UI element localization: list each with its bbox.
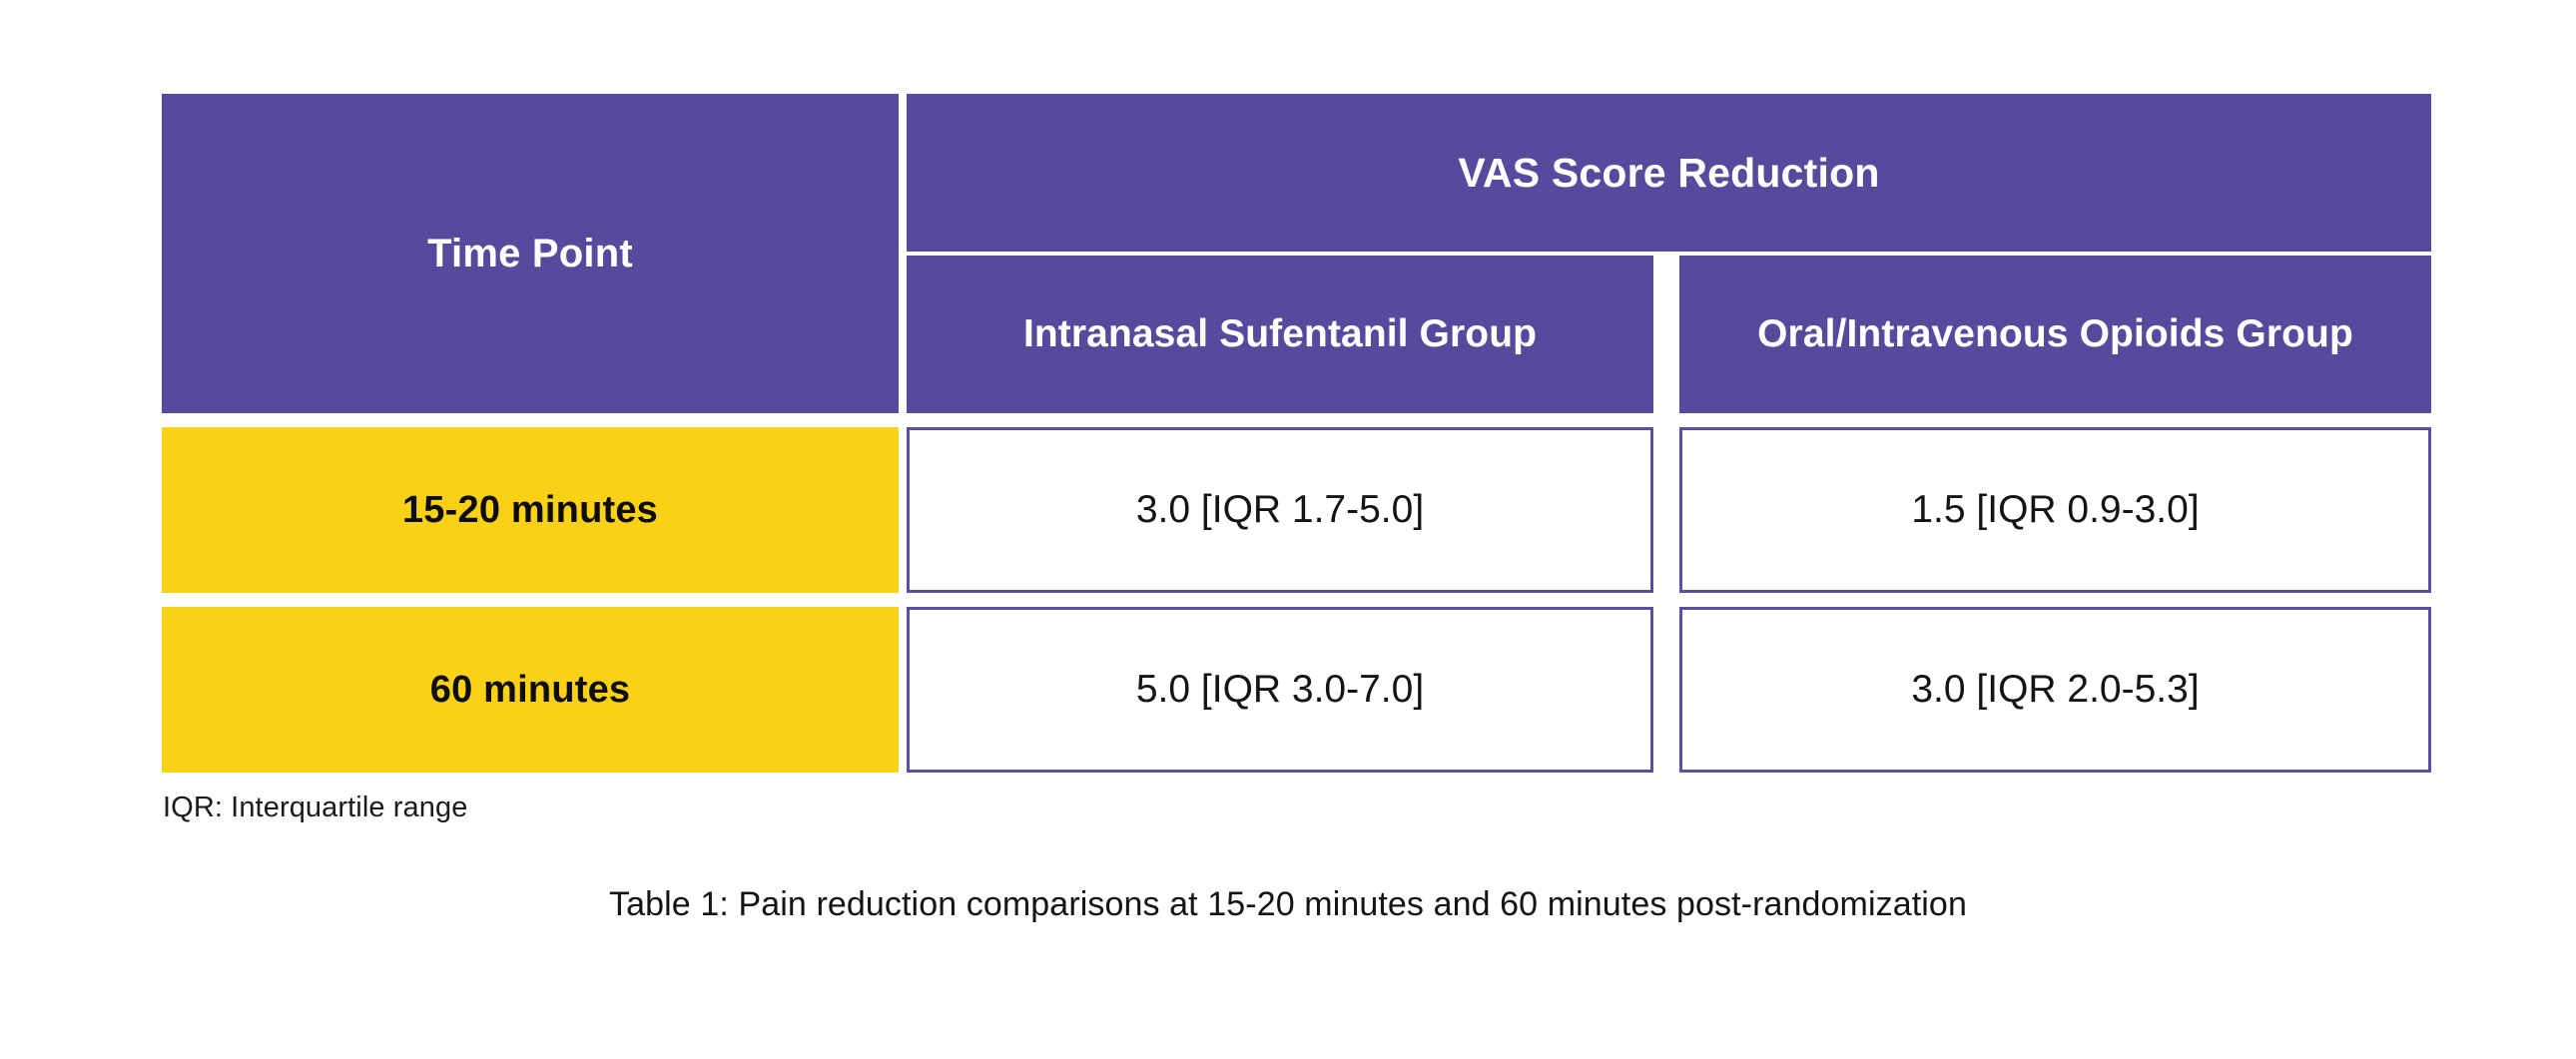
table-figure-page: Time Point VAS Score Reduction Intranasa… [0,0,2576,1059]
table-footnote: IQR: Interquartile range [163,792,467,824]
table-caption: Table 1: Pain reduction comparisons at 1… [0,885,2576,924]
cell-oral-iv-15-20-minutes: 1.5 [IQR 0.9-3.0] [1679,427,2431,593]
cell-intranasal-15-20-minutes: 3.0 [IQR 1.7-5.0] [907,427,1653,593]
cell-intranasal-60-minutes: 5.0 [IQR 3.0-7.0] [907,607,1653,773]
header-vas-score-reduction: VAS Score Reduction [907,94,2431,252]
row-label-15-20-minutes: 15-20 minutes [162,427,899,593]
header-oral-intravenous-opioids-group: Oral/Intravenous Opioids Group [1679,256,2431,413]
cell-oral-iv-60-minutes: 3.0 [IQR 2.0-5.3] [1679,607,2431,773]
table-grid: Time Point VAS Score Reduction Intranasa… [162,94,2451,773]
header-time-point: Time Point [162,94,899,413]
comparison-table: Time Point VAS Score Reduction Intranasa… [162,94,2451,773]
header-intranasal-sufentanil-group: Intranasal Sufentanil Group [907,256,1653,413]
row-label-60-minutes: 60 minutes [162,607,899,773]
